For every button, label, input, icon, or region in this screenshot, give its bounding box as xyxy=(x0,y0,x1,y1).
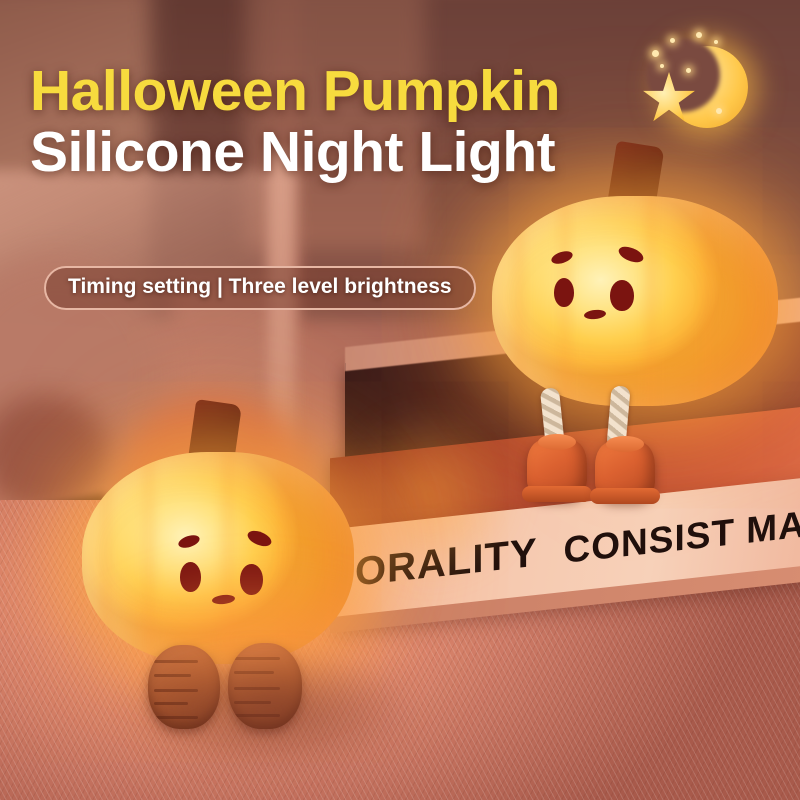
pumpkin-night-light-back[interactable] xyxy=(492,196,778,406)
promo-image: LIND ORALITYCONSIST MA xyxy=(0,0,800,800)
sparkle-icon xyxy=(652,50,659,57)
sparkle-icon xyxy=(716,108,722,114)
right-eye-icon xyxy=(610,280,634,311)
boot-left-cuff xyxy=(538,434,576,450)
left-eye-icon xyxy=(554,278,574,307)
boot-right xyxy=(595,442,655,500)
pumpkin-rib-shading-back xyxy=(492,196,778,406)
sparkle-icon xyxy=(686,68,691,73)
feature-badge: Timing setting | Three level brightness xyxy=(44,266,476,310)
sparkle-icon xyxy=(670,38,675,43)
headline-line-2: Silicone Night Light xyxy=(30,122,670,184)
headline-block: Halloween Pumpkin Silicone Night Light xyxy=(30,62,670,184)
boot-left xyxy=(527,440,587,498)
boot-right-cuff xyxy=(606,436,644,452)
fabric-contact-shadow xyxy=(60,650,480,800)
sparkle-icon xyxy=(714,40,718,44)
headline-line-1: Halloween Pumpkin xyxy=(30,62,670,120)
sparkle-icon xyxy=(696,32,702,38)
